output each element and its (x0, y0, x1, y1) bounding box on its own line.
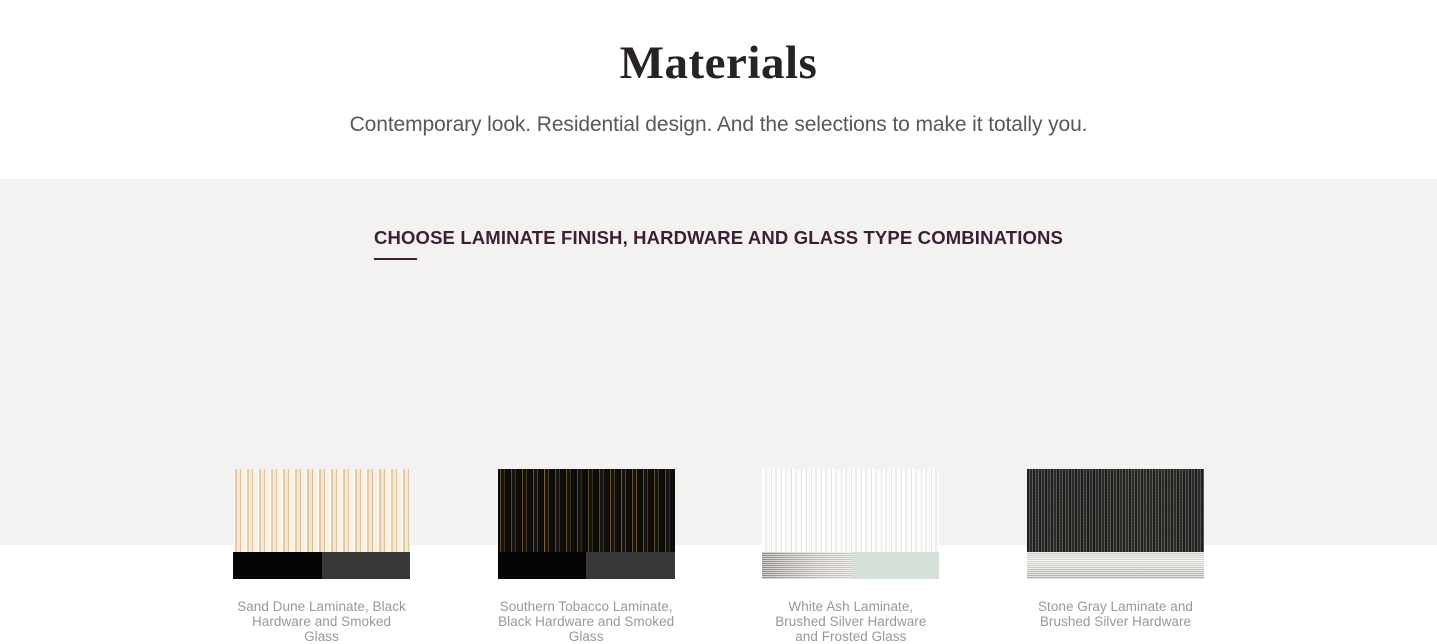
section-heading-text: CHOOSE LAMINATE FINISH, HARDWARE AND GLA… (374, 227, 1063, 248)
laminate-finish-sample (1027, 469, 1204, 552)
materials-section: CHOOSE LAMINATE FINISH, HARDWARE AND GLA… (0, 179, 1437, 545)
hardware-glass-strip (498, 552, 675, 579)
hero-subtitle: Contemporary look. Residential design. A… (0, 91, 1437, 137)
glass-sample (851, 552, 940, 579)
swatch-tile[interactable] (233, 469, 410, 579)
section-heading-wrap: CHOOSE LAMINATE FINISH, HARDWARE AND GLA… (0, 179, 1437, 249)
swatch-caption: Sand Dune Laminate, Black Hardware and S… (233, 599, 410, 644)
section-heading: CHOOSE LAMINATE FINISH, HARDWARE AND GLA… (374, 229, 1063, 248)
laminate-finish-sample (762, 469, 939, 552)
swatch-tile[interactable] (1027, 469, 1204, 579)
hardware-sample (498, 552, 587, 579)
swatch-caption: Southern Tobacco Laminate, Black Hardwar… (498, 599, 675, 644)
swatch-grid: Sand Dune Laminate, Black Hardware and S… (233, 469, 1204, 644)
hardware-glass-strip (233, 552, 410, 579)
swatch-tile[interactable] (762, 469, 939, 579)
laminate-finish-sample (498, 469, 675, 552)
swatch-card-southern-tobacco[interactable]: Southern Tobacco Laminate, Black Hardwar… (498, 469, 675, 644)
swatch-card-sand-dune[interactable]: Sand Dune Laminate, Black Hardware and S… (233, 469, 410, 644)
page-title: Materials (0, 36, 1437, 91)
hardware-glass-strip (762, 552, 939, 579)
swatch-caption: White Ash Laminate, Brushed Silver Hardw… (762, 599, 939, 644)
hardware-sample (1027, 552, 1204, 579)
swatch-card-white-ash[interactable]: White Ash Laminate, Brushed Silver Hardw… (762, 469, 939, 644)
section-heading-underline-rule (374, 258, 417, 260)
swatch-caption: Stone Gray Laminate and Brushed Silver H… (1027, 599, 1204, 629)
laminate-finish-sample (233, 469, 410, 552)
glass-sample (322, 552, 411, 579)
hardware-glass-strip (1027, 552, 1204, 579)
hero-section: Materials Contemporary look. Residential… (0, 0, 1437, 179)
hardware-sample (762, 552, 851, 579)
materials-page: Materials Contemporary look. Residential… (0, 0, 1437, 545)
swatch-card-stone-gray[interactable]: Stone Gray Laminate and Brushed Silver H… (1027, 469, 1204, 644)
glass-sample (586, 552, 675, 579)
swatch-tile[interactable] (498, 469, 675, 579)
hardware-sample (233, 552, 322, 579)
